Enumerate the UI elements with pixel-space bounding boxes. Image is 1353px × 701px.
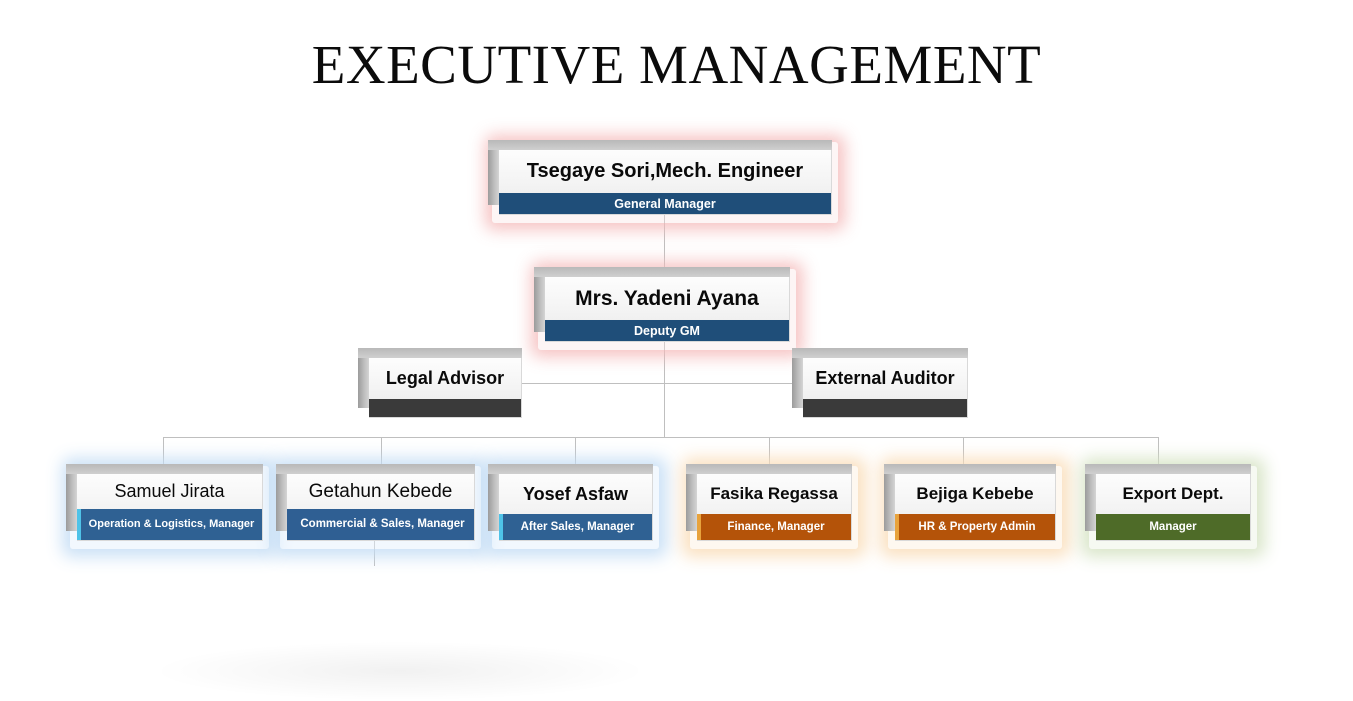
- node-commercial-sales[interactable]: Getahun Kebede Commercial & Sales, Manag…: [276, 464, 475, 541]
- node-role: HR & Property Admin: [895, 514, 1055, 540]
- node-role: General Manager: [499, 193, 831, 214]
- node-role: [803, 399, 967, 417]
- node-face: Samuel Jirata Operation & Logistics, Man…: [77, 474, 263, 541]
- node-3d-top: [792, 348, 968, 358]
- node-face: Tsegaye Sori,Mech. Engineer General Mana…: [499, 150, 832, 215]
- node-face: Getahun Kebede Commercial & Sales, Manag…: [287, 474, 475, 541]
- node-name: Bejiga Kebebe: [895, 474, 1055, 514]
- node-face: Bejiga Kebebe HR & Property Admin: [895, 474, 1056, 541]
- connector-advisor-bar: [520, 383, 795, 384]
- node-name: Tsegaye Sori,Mech. Engineer: [499, 150, 831, 193]
- node-name: Legal Advisor: [369, 358, 521, 399]
- node-role: Commercial & Sales, Manager: [287, 509, 474, 540]
- node-face: Legal Advisor: [369, 358, 522, 418]
- node-3d-top: [488, 464, 653, 474]
- node-3d-top: [534, 267, 790, 277]
- node-after-sales[interactable]: Yosef Asfaw After Sales, Manager: [488, 464, 653, 541]
- node-face: External Auditor: [803, 358, 968, 418]
- node-3d-top: [488, 140, 832, 150]
- node-name: Mrs. Yadeni Ayana: [545, 277, 789, 320]
- connector-level4-bus: [163, 437, 1159, 438]
- node-general-manager[interactable]: Tsegaye Sori,Mech. Engineer General Mana…: [488, 140, 832, 215]
- org-chart-canvas: EXECUTIVE MANAGEMENT Tsegaye Sori,Mech. …: [0, 0, 1353, 675]
- node-3d-side: [66, 464, 77, 531]
- node-face: Export Dept. Manager: [1096, 474, 1251, 541]
- node-face: Yosef Asfaw After Sales, Manager: [499, 474, 653, 541]
- connector-drop-hr: [963, 437, 964, 465]
- node-3d-side: [884, 464, 895, 531]
- node-3d-top: [1085, 464, 1251, 474]
- node-operations-logistics[interactable]: Samuel Jirata Operation & Logistics, Man…: [66, 464, 263, 541]
- node-name: Samuel Jirata: [77, 474, 262, 509]
- node-deputy-gm[interactable]: Mrs. Yadeni Ayana Deputy GM: [534, 267, 790, 342]
- bottom-shadow-decoration: [150, 641, 650, 701]
- node-role: Manager: [1096, 514, 1250, 540]
- node-name: Export Dept.: [1096, 474, 1250, 514]
- node-hr-property[interactable]: Bejiga Kebebe HR & Property Admin: [884, 464, 1056, 541]
- node-name: Getahun Kebede: [287, 474, 474, 509]
- node-3d-side: [686, 464, 697, 531]
- node-3d-top: [276, 464, 475, 474]
- page-title: EXECUTIVE MANAGEMENT: [0, 34, 1353, 96]
- node-face: Mrs. Yadeni Ayana Deputy GM: [545, 277, 790, 342]
- connector-drop-finance: [769, 437, 770, 465]
- node-external-auditor[interactable]: External Auditor: [792, 348, 968, 418]
- node-name: Fasika Regassa: [697, 474, 851, 514]
- node-export-dept[interactable]: Export Dept. Manager: [1085, 464, 1251, 541]
- node-role: After Sales, Manager: [499, 514, 652, 540]
- connector-drop-export: [1158, 437, 1159, 465]
- node-name: Yosef Asfaw: [499, 474, 652, 514]
- node-role: Deputy GM: [545, 320, 789, 341]
- node-3d-side: [488, 464, 499, 531]
- node-3d-top: [66, 464, 263, 474]
- connector-drop-after-sales: [575, 437, 576, 465]
- node-role: Operation & Logistics, Manager: [77, 509, 262, 540]
- node-role: [369, 399, 521, 417]
- node-3d-side: [276, 464, 287, 531]
- node-3d-top: [884, 464, 1056, 474]
- node-3d-top: [686, 464, 852, 474]
- node-face: Fasika Regassa Finance, Manager: [697, 474, 852, 541]
- node-3d-top: [358, 348, 522, 358]
- connector-drop-operations: [163, 437, 164, 465]
- connector-drop-commercial: [381, 437, 382, 465]
- node-finance[interactable]: Fasika Regassa Finance, Manager: [686, 464, 852, 541]
- node-3d-side: [1085, 464, 1096, 531]
- node-legal-advisor[interactable]: Legal Advisor: [358, 348, 522, 418]
- node-role: Finance, Manager: [697, 514, 851, 540]
- node-name: External Auditor: [803, 358, 967, 399]
